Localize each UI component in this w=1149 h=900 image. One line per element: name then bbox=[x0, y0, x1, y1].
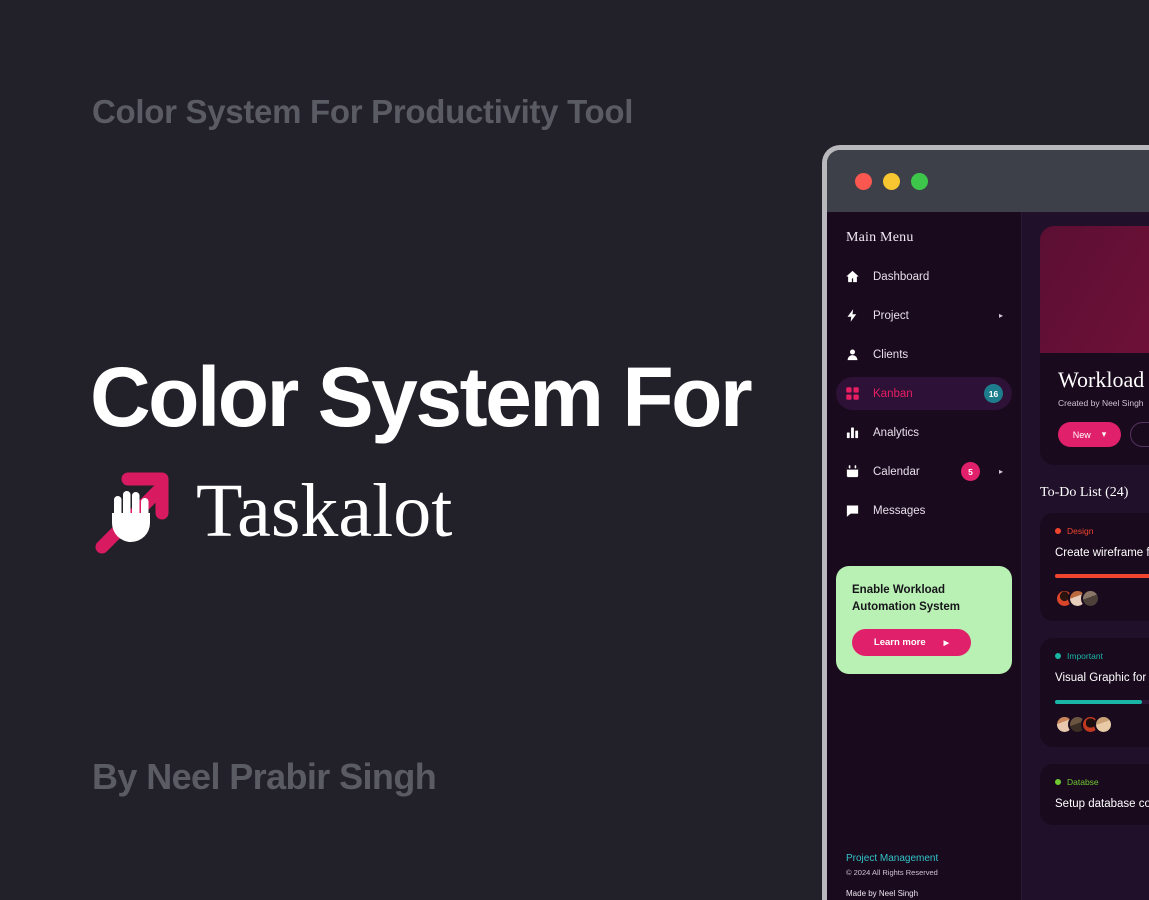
promo-card: Enable Workload Automation System Learn … bbox=[836, 566, 1012, 674]
hero-actions: New ▾ Share bbox=[1058, 422, 1149, 447]
hero-image bbox=[1040, 226, 1149, 353]
sidebar-badge-kanban: 16 bbox=[984, 384, 1003, 403]
hero-subtitle: Created by Neel Singh bbox=[1058, 398, 1149, 408]
avatar-stack bbox=[1055, 589, 1149, 608]
tag-dot-icon bbox=[1055, 653, 1061, 659]
sidebar-heading: Main Menu bbox=[827, 230, 1021, 246]
close-window-button[interactable] bbox=[855, 173, 872, 190]
play-triangle-icon: ▶ bbox=[944, 639, 949, 647]
sidebar-item-label: Kanban bbox=[873, 388, 971, 400]
new-button-label: New bbox=[1073, 430, 1091, 440]
tag-dot-icon bbox=[1055, 779, 1061, 785]
brand-lockup: Taskalot bbox=[92, 465, 452, 557]
task-tag-label: Design bbox=[1067, 526, 1093, 536]
task-tag-label: Important bbox=[1067, 651, 1103, 661]
todo-list-header: To-Do List (24) bbox=[1040, 485, 1149, 501]
content-area: Workload Created by Neel Singh New ▾ Sha… bbox=[1022, 212, 1149, 900]
page-title: Color System For bbox=[90, 355, 750, 439]
footer-made-by: Made by Neel Singh bbox=[846, 889, 938, 898]
progress-track bbox=[1055, 574, 1149, 578]
sidebar-item-label: Dashboard bbox=[873, 271, 1003, 283]
footer-link[interactable]: Project Management bbox=[846, 853, 938, 864]
browser-window-mockup: Main Menu Dashboard Project ▸ Clients bbox=[822, 145, 1149, 900]
sidebar-item-project[interactable]: Project ▸ bbox=[836, 299, 1012, 332]
sidebar-badge-calendar: 5 bbox=[961, 462, 980, 481]
promo-title: Enable Workload Automation System bbox=[852, 582, 996, 615]
task-title: Create wireframe for page phase 1 bbox=[1055, 545, 1149, 561]
app-body: Main Menu Dashboard Project ▸ Clients bbox=[827, 212, 1149, 900]
sidebar-item-label: Analytics bbox=[873, 427, 1003, 439]
hero-title: Workload bbox=[1058, 367, 1149, 393]
hero-body: Workload Created by Neel Singh New ▾ Sha… bbox=[1040, 353, 1149, 465]
sidebar-item-analytics[interactable]: Analytics bbox=[836, 416, 1012, 449]
avatar-stack bbox=[1055, 715, 1149, 734]
sidebar-item-label: Project bbox=[873, 310, 980, 322]
task-card[interactable]: Design Create wireframe for page phase 1 bbox=[1040, 513, 1149, 621]
sidebar-item-clients[interactable]: Clients bbox=[836, 338, 1012, 371]
brand-name: Taskalot bbox=[196, 473, 452, 549]
sidebar: Main Menu Dashboard Project ▸ Clients bbox=[827, 212, 1022, 900]
task-title: Setup database connection bbox=[1055, 796, 1149, 812]
task-tag-label: Databse bbox=[1067, 777, 1099, 787]
task-card[interactable]: Databse Setup database connection bbox=[1040, 764, 1149, 825]
sidebar-footer: Project Management © 2024 All Rights Res… bbox=[846, 853, 938, 898]
progress-fill bbox=[1055, 700, 1142, 704]
avatar[interactable] bbox=[1094, 715, 1113, 734]
new-button[interactable]: New ▾ bbox=[1058, 422, 1121, 447]
workload-hero-card: Workload Created by Neel Singh New ▾ Sha… bbox=[1040, 226, 1149, 465]
message-icon bbox=[845, 503, 860, 518]
maximize-window-button[interactable] bbox=[911, 173, 928, 190]
window-titlebar bbox=[827, 150, 1149, 212]
sidebar-item-dashboard[interactable]: Dashboard bbox=[836, 260, 1012, 293]
progress-track bbox=[1055, 700, 1149, 704]
tag-dot-icon bbox=[1055, 528, 1061, 534]
sidebar-item-kanban[interactable]: Kanban 16 bbox=[836, 377, 1012, 410]
avatar[interactable] bbox=[1081, 589, 1100, 608]
sidebar-item-label: Messages bbox=[873, 505, 1003, 517]
sidebar-item-label: Clients bbox=[873, 349, 1003, 361]
chevron-right-icon: ▸ bbox=[993, 311, 1003, 320]
task-tag: Design bbox=[1055, 526, 1149, 536]
task-card[interactable]: Important Visual Graphic for Presentatio… bbox=[1040, 638, 1149, 746]
calendar-icon bbox=[845, 464, 860, 479]
eyebrow-text: Color System For Productivity Tool bbox=[92, 93, 633, 131]
sidebar-item-label: Calendar bbox=[873, 466, 948, 478]
chevron-right-icon: ▸ bbox=[993, 467, 1003, 476]
sidebar-item-calendar[interactable]: Calendar 5 ▸ bbox=[836, 455, 1012, 488]
share-button[interactable]: Share bbox=[1130, 422, 1149, 447]
minimize-window-button[interactable] bbox=[883, 173, 900, 190]
author-byline: By Neel Prabir Singh bbox=[92, 756, 436, 798]
home-icon bbox=[845, 269, 860, 284]
hand-cursor-arrow-icon bbox=[92, 465, 178, 557]
bolt-icon bbox=[845, 308, 860, 323]
sidebar-item-messages[interactable]: Messages bbox=[836, 494, 1012, 527]
task-tag: Databse bbox=[1055, 777, 1149, 787]
learn-more-button[interactable]: Learn more ▶ bbox=[852, 629, 971, 656]
footer-copyright: © 2024 All Rights Reserved bbox=[846, 868, 938, 877]
bar-chart-icon bbox=[845, 425, 860, 440]
cover-panel: Color System For Productivity Tool Color… bbox=[0, 0, 830, 900]
task-title: Visual Graphic for Presentation to clien… bbox=[1055, 670, 1149, 686]
chevron-down-icon: ▾ bbox=[1102, 429, 1107, 440]
progress-fill bbox=[1055, 574, 1149, 578]
user-icon bbox=[845, 347, 860, 362]
grid-icon bbox=[845, 386, 860, 401]
learn-more-label: Learn more bbox=[874, 637, 926, 648]
task-tag: Important bbox=[1055, 651, 1149, 661]
